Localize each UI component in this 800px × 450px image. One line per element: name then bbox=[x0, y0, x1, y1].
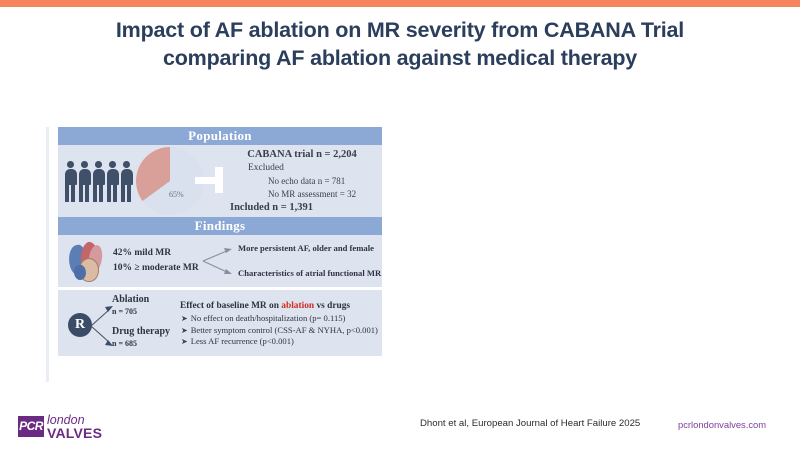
effect-item-1: ➤No effect on death/hospitalization (p= … bbox=[180, 313, 380, 325]
pie-percentage-label: 65% bbox=[169, 190, 184, 199]
effect-title-highlight: ablation bbox=[281, 301, 314, 311]
bullet-glyph-1: ➤ bbox=[181, 314, 191, 323]
title-line-1: Impact of AF ablation on MR severity fro… bbox=[40, 16, 760, 44]
page-title: Impact of AF ablation on MR severity fro… bbox=[40, 16, 760, 72]
section-body-population: 65% CABANA trial n = 2,204 Excluded No e… bbox=[58, 145, 382, 217]
arm-drug-therapy-n: n = 685 bbox=[112, 338, 170, 349]
population-pie-chart: 65% bbox=[136, 147, 204, 215]
included-label: Included n = 1,391 bbox=[226, 200, 378, 215]
effect-item-3: ➤Less AF recurrence (p<0.001) bbox=[180, 336, 380, 348]
bullet-glyph-3: ➤ bbox=[181, 337, 191, 346]
pie-callout-connector bbox=[195, 167, 225, 193]
excluded-item-mr: No MR assessment = 32 bbox=[226, 188, 378, 201]
diverging-arrows-icon bbox=[202, 245, 234, 279]
arm-ablation-n: n = 705 bbox=[112, 306, 149, 317]
section-body-randomisation: R Ablation n = 705 Drug therapy n = 685 … bbox=[58, 290, 382, 356]
arm-drug-therapy-name: Drug therapy bbox=[112, 326, 170, 338]
excluded-label: Excluded bbox=[226, 162, 378, 175]
trial-total-label: CABANA trial n = 2,204 bbox=[226, 148, 378, 162]
excluded-item-echo: No echo data n = 781 bbox=[226, 175, 378, 188]
outcome-persistent-af: More persistent AF, older and female bbox=[238, 242, 374, 254]
effect-title-pre: Effect of baseline MR on bbox=[180, 301, 281, 311]
section-header-population: Population bbox=[58, 127, 382, 145]
infographic-panel: Population 65% CABANA trial n = 2,204 Ex… bbox=[46, 127, 379, 382]
findings-stats: 42% mild MR 10% ≥ moderate MR bbox=[113, 246, 199, 276]
arm-drug-therapy: Drug therapy n = 685 bbox=[112, 326, 170, 349]
people-group-icon bbox=[64, 161, 136, 205]
citation-text: Dhont et al, European Journal of Heart F… bbox=[420, 418, 640, 429]
pcr-london-valves-logo: PCR london VALVES bbox=[18, 412, 138, 440]
effect-item-2: ➤Better symptom control (CSS-AF & NYHA, … bbox=[180, 325, 380, 337]
title-line-2: comparing AF ablation against medical th… bbox=[40, 44, 760, 72]
outcome-atrial-functional-mr: Characteristics of atrial functional MR bbox=[238, 267, 381, 279]
pie-slices bbox=[136, 147, 204, 215]
logo-word-valves: VALVES bbox=[47, 426, 102, 441]
population-text-block: CABANA trial n = 2,204 Excluded No echo … bbox=[226, 148, 378, 215]
section-body-findings: 42% mild MR 10% ≥ moderate MR More persi… bbox=[58, 235, 382, 287]
heart-anatomy-icon bbox=[68, 241, 108, 281]
arm-ablation-name: Ablation bbox=[112, 294, 149, 306]
pcr-logo-mark: PCR bbox=[18, 416, 44, 437]
effect-item-2-text: Better symptom control (CSS-AF & NYHA, p… bbox=[191, 325, 378, 335]
website-url[interactable]: pcrlondonvalves.com bbox=[678, 419, 766, 430]
bullet-glyph-2: ➤ bbox=[181, 326, 191, 335]
stat-mild-mr: 42% mild MR bbox=[113, 246, 199, 261]
effect-title: Effect of baseline MR on ablation vs dru… bbox=[180, 300, 380, 313]
effect-block: Effect of baseline MR on ablation vs dru… bbox=[180, 300, 380, 348]
top-accent-bar bbox=[0, 0, 800, 7]
effect-title-post: vs drugs bbox=[314, 301, 350, 311]
section-header-findings: Findings bbox=[58, 217, 382, 235]
arm-ablation: Ablation n = 705 bbox=[112, 294, 149, 317]
effect-item-3-text: Less AF recurrence (p<0.001) bbox=[191, 336, 294, 346]
stat-moderate-mr: 10% ≥ moderate MR bbox=[113, 261, 199, 276]
effect-item-1-text: No effect on death/hospitalization (p= 0… bbox=[191, 313, 346, 323]
